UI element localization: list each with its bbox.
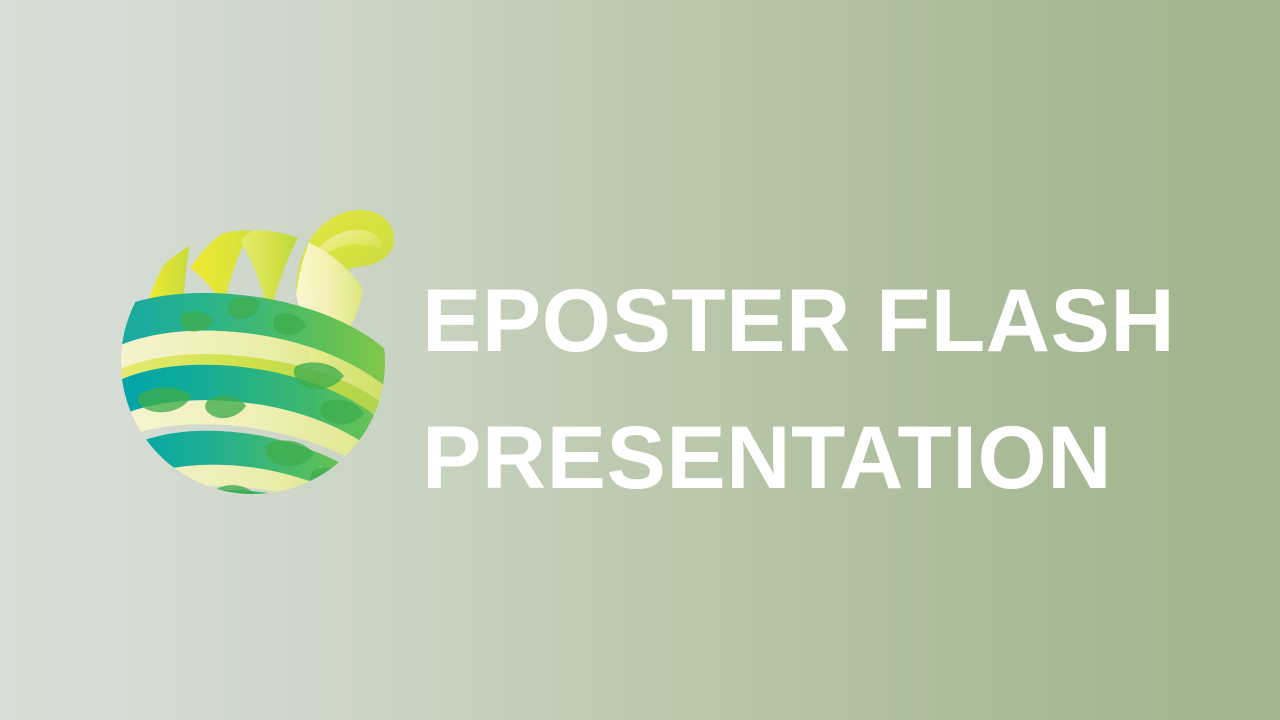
presentation-slide: EPOSTER FLASH PRESENTATION [0, 0, 1280, 720]
title-line-2: PRESENTATION [422, 389, 1222, 526]
slide-title: EPOSTER FLASH PRESENTATION [422, 252, 1222, 526]
globe-ribbon-leaf-logo [118, 198, 398, 518]
title-line-1: EPOSTER FLASH [422, 252, 1222, 389]
